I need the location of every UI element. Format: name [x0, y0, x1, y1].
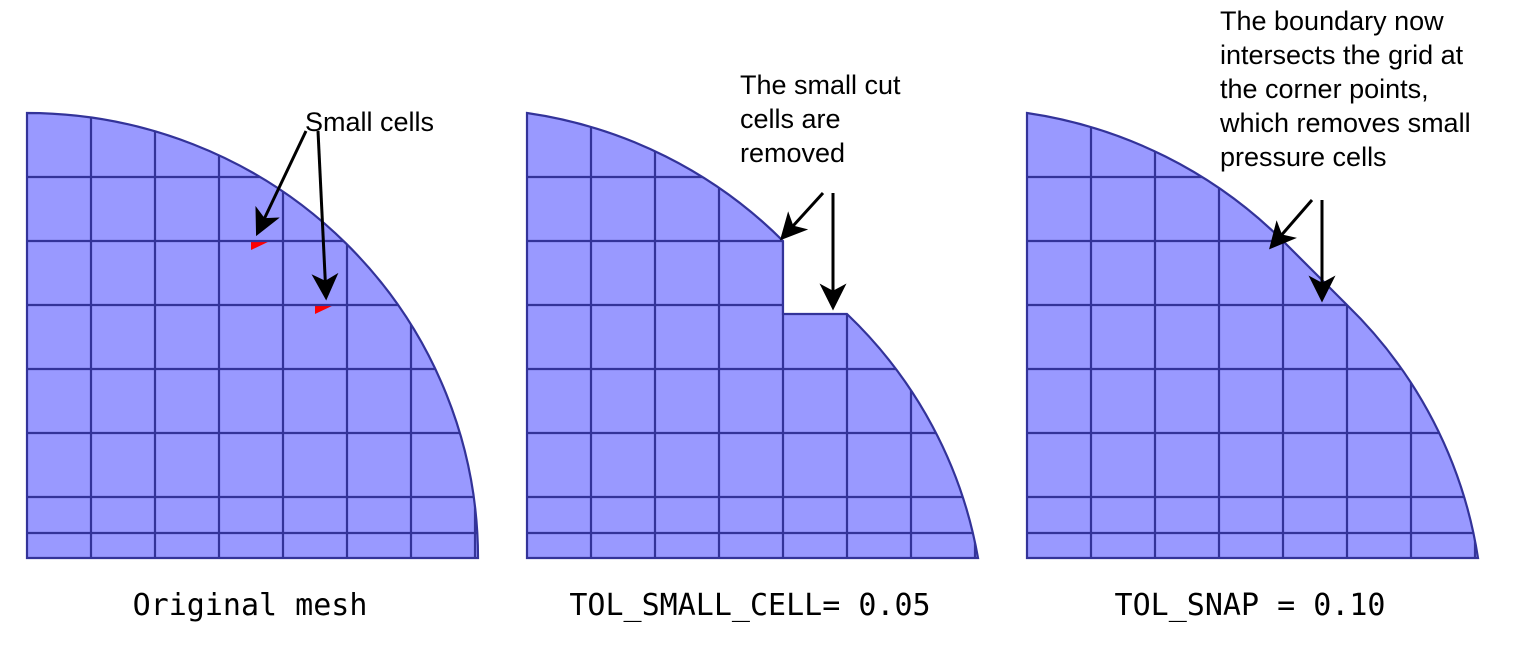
callout-text-small-cells: Small cells — [305, 105, 495, 139]
mesh-diagram-original — [0, 0, 500, 580]
panel-tol-small-cell: The small cut cells are removed TOL_SMAL… — [500, 0, 1000, 652]
callout-text-boundary-snap: The boundary now intersects the grid at … — [1220, 4, 1505, 174]
arrow-to-removed-cell-1 — [783, 193, 823, 237]
callout-arrows — [783, 193, 833, 306]
panel-caption-tol-small-cell: TOL_SMALL_CELL= 0.05 — [500, 588, 1000, 623]
figure-root: Small cells Original mesh — [0, 0, 1540, 652]
panel-caption-tol-snap: TOL_SNAP = 0.10 — [1000, 588, 1500, 623]
panel-tol-snap: The boundary now intersects the grid at … — [1000, 0, 1500, 652]
callout-text-small-cut-cells-removed: The small cut cells are removed — [740, 68, 955, 170]
arrow-to-corner-point-1 — [1272, 200, 1312, 246]
panel-original-mesh: Small cells Original mesh — [0, 0, 500, 652]
panel-caption-original-mesh: Original mesh — [0, 588, 500, 623]
